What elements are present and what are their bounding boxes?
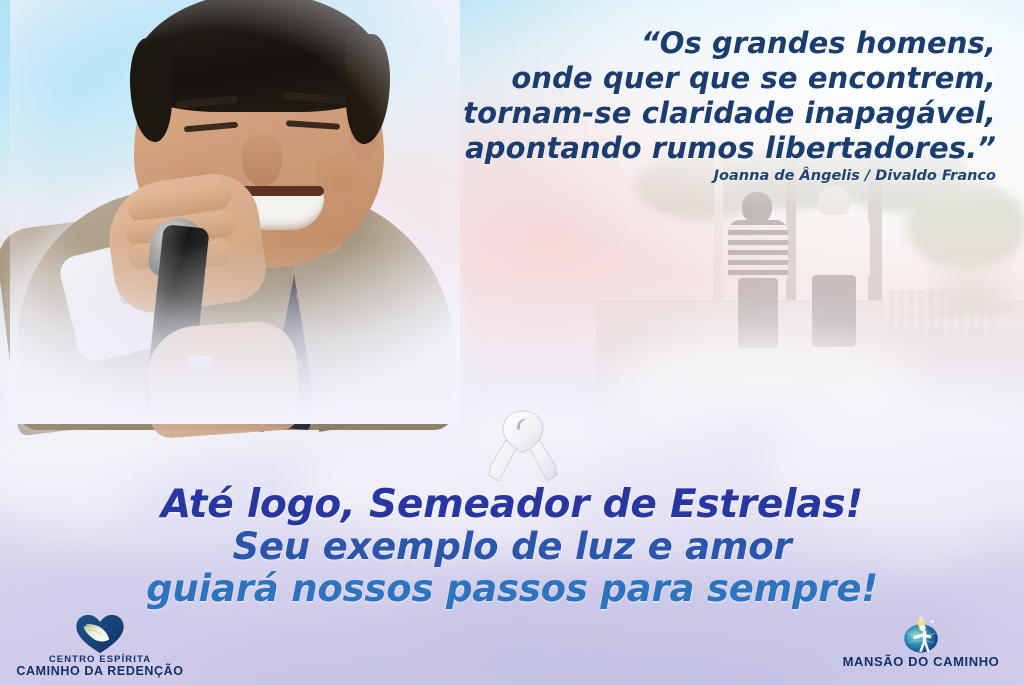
headline-line-2: Seu exemplo de luz e amor bbox=[0, 526, 1024, 568]
portrait-soft-fade bbox=[10, 0, 460, 424]
logo-right-line-1: MANSÃO DO CAMINHO bbox=[818, 655, 1024, 669]
memorial-poster: “Os grandes homens, onde quer que se enc… bbox=[0, 0, 1024, 685]
quote-line-4: apontando rumos libertadores.” bbox=[430, 131, 996, 166]
quote-text: “Os grandes homens, onde quer que se enc… bbox=[430, 26, 996, 166]
headline-message: Até logo, Semeador de Estrelas! Seu exem… bbox=[0, 484, 1024, 610]
portrait-photo bbox=[10, 0, 460, 424]
globe-figure-flame-icon bbox=[818, 613, 1024, 655]
logo-left-line-2: CAMINHO DA REDENÇÃO bbox=[0, 665, 200, 678]
headline-line-3: guiará nossos passos para sempre! bbox=[0, 568, 1024, 610]
quote-line-1: “Os grandes homens, bbox=[430, 26, 996, 61]
quote-line-3: tornam-se claridade inapagável, bbox=[430, 96, 996, 131]
logo-left-text: CENTRO ESPÍRITA CAMINHO DA REDENÇÃO bbox=[0, 655, 200, 678]
logo-right-text: MANSÃO DO CAMINHO bbox=[818, 655, 1024, 669]
heart-hands-icon bbox=[0, 613, 200, 655]
quote-line-2: onde quer que se encontrem, bbox=[430, 61, 996, 96]
white-mourning-ribbon-icon bbox=[487, 409, 559, 487]
quote-attribution: Joanna de Ângelis / Divaldo Franco bbox=[430, 168, 996, 184]
logo-mansao-do-caminho: MANSÃO DO CAMINHO bbox=[818, 613, 1024, 669]
logo-centro-espirita-caminho-da-redencao: CENTRO ESPÍRITA CAMINHO DA REDENÇÃO bbox=[0, 613, 200, 678]
headline-line-1: Até logo, Semeador de Estrelas! bbox=[0, 484, 1024, 526]
